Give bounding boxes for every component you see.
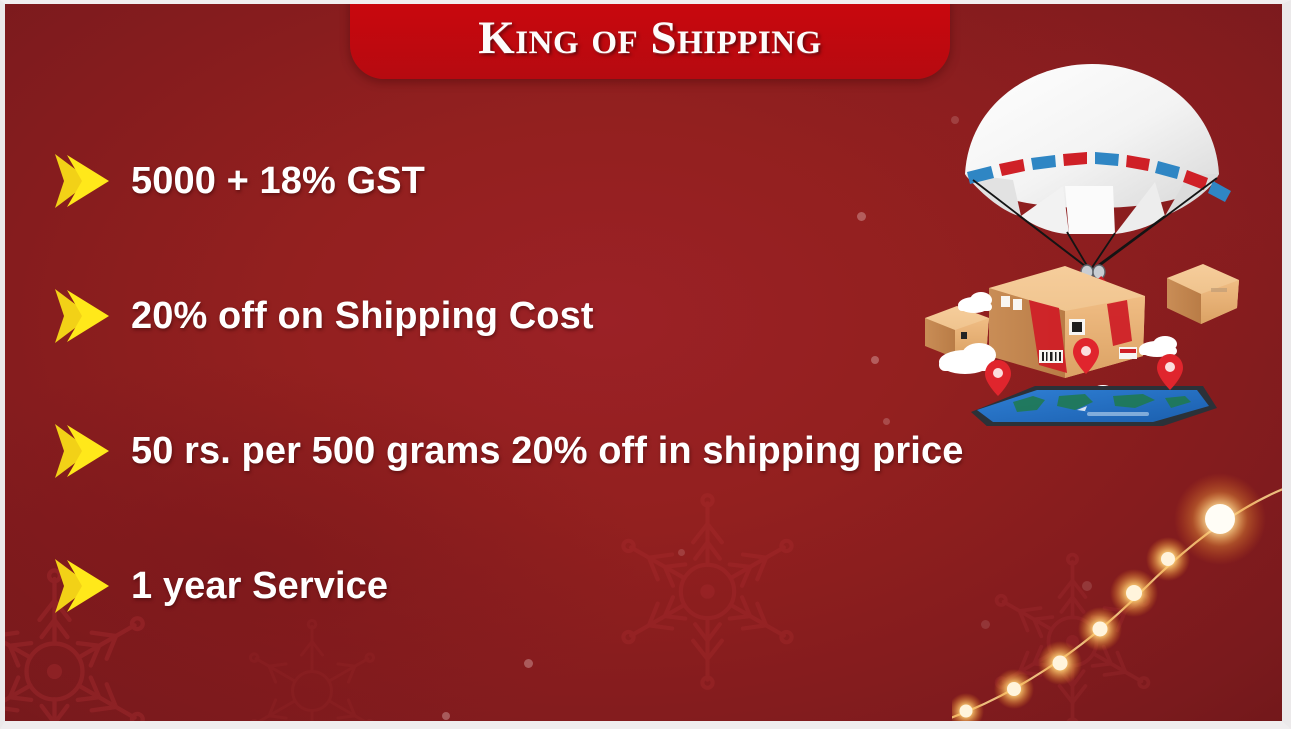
package-box-icon bbox=[1167, 264, 1239, 324]
promo-banner: King of Shipping 5000 + 18% GST 20% off … bbox=[0, 0, 1291, 729]
cloud-icon bbox=[1139, 336, 1177, 357]
double-chevron-right-icon bbox=[51, 420, 117, 482]
offer-text: 20% off on Shipping Cost bbox=[131, 297, 594, 335]
double-chevron-right-icon bbox=[51, 285, 117, 347]
package-box-icon bbox=[989, 266, 1145, 378]
offer-text: 1 year Service bbox=[131, 567, 388, 605]
title-banner-pill: King of Shipping bbox=[350, 0, 950, 79]
particle-dot bbox=[442, 712, 450, 720]
location-pin-icon bbox=[985, 360, 1011, 396]
double-chevron-right-icon bbox=[51, 555, 117, 617]
location-pin-icon bbox=[1157, 354, 1183, 390]
offer-item: 50 rs. per 500 grams 20% off in shipping… bbox=[51, 422, 1231, 480]
cloud-icon bbox=[958, 292, 992, 313]
double-chevron-right-icon bbox=[51, 150, 117, 212]
offer-text: 50 rs. per 500 grams 20% off in shipping… bbox=[131, 432, 963, 470]
parachute-icon bbox=[965, 64, 1231, 300]
offer-text: 5000 + 18% GST bbox=[131, 162, 425, 200]
offer-item: 1 year Service bbox=[51, 557, 1231, 615]
shipping-illustration bbox=[917, 56, 1267, 426]
page-title: King of Shipping bbox=[478, 15, 822, 79]
